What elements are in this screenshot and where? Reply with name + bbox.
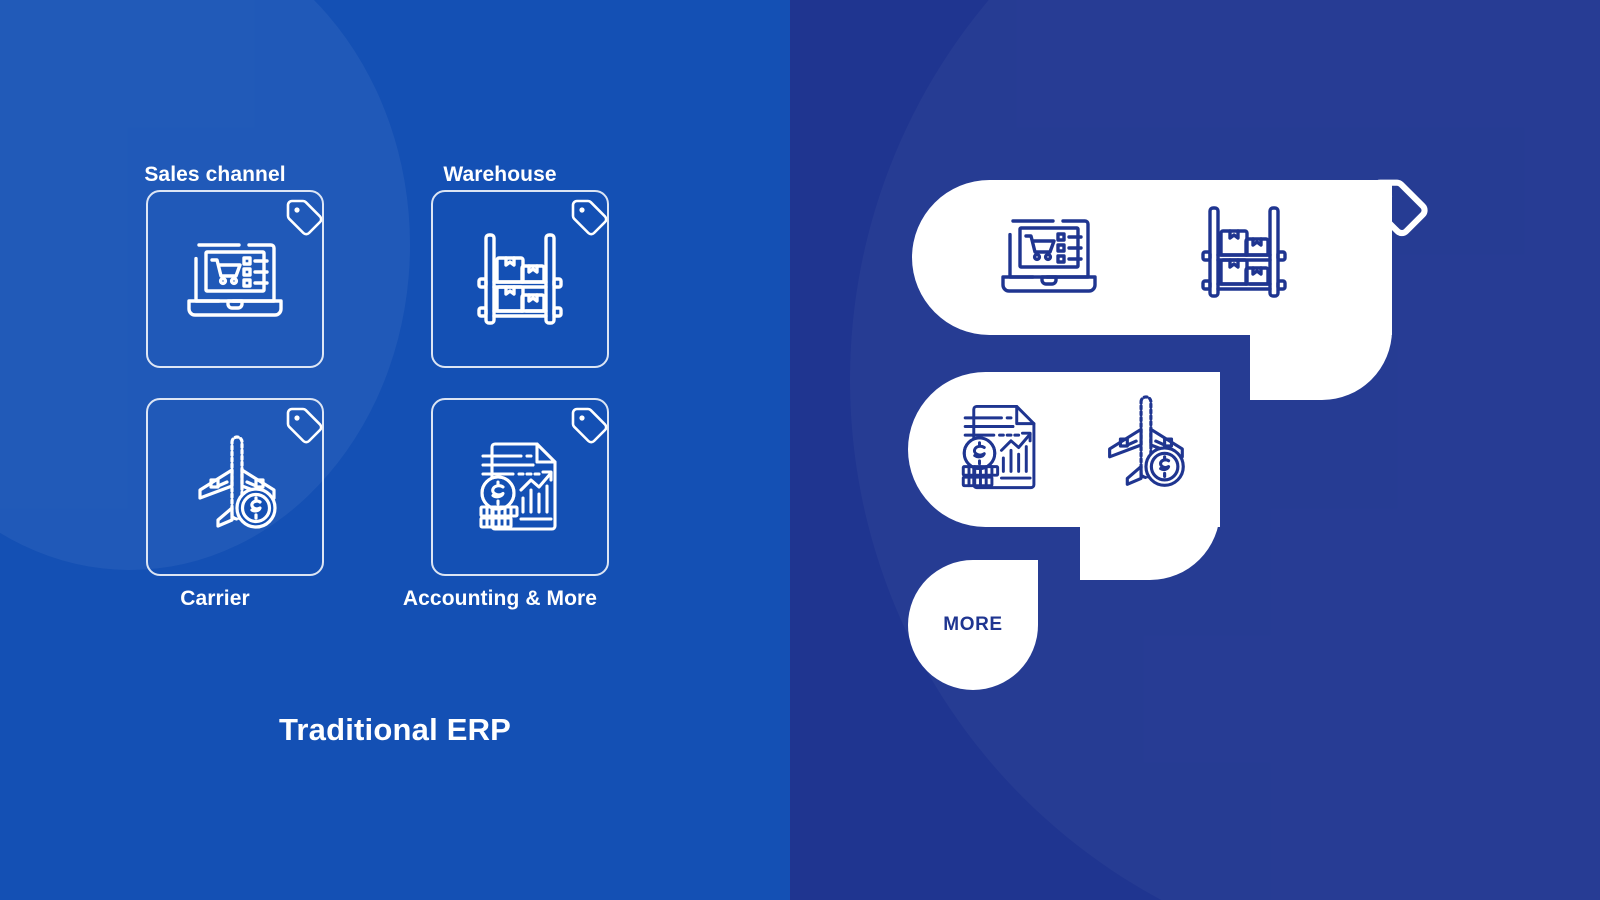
- price-tag-icon: [1365, 172, 1435, 242]
- price-tag-icon: [282, 402, 328, 448]
- erp-card-carrier[interactable]: Carrier: [120, 398, 310, 614]
- modern-platform-panel: MORE: [790, 0, 1600, 900]
- group-icon-carrier[interactable]: [1090, 392, 1198, 500]
- group-icon-warehouse[interactable]: [1190, 198, 1298, 306]
- accounting-report-chart-icon: [465, 432, 575, 542]
- more-button-label: MORE: [943, 614, 1002, 636]
- erp-card-accounting[interactable]: Accounting & More: [405, 398, 595, 614]
- erp-card-warehouse[interactable]: Warehouse: [405, 160, 595, 368]
- card-label-warehouse: Warehouse: [405, 160, 595, 190]
- erp-card-sales-channel[interactable]: Sales channel: [120, 160, 310, 368]
- accounting-report-chart-icon: [948, 395, 1053, 500]
- comparison-graphic: Sales channel: [0, 0, 1600, 900]
- warehouse-shelf-boxes-icon: [1190, 198, 1298, 306]
- price-tag-icon: [567, 194, 613, 240]
- card-label-accounting: Accounting & More: [370, 584, 630, 614]
- erp-module-grid: Sales channel: [120, 160, 680, 614]
- laptop-shopping-cart-icon: [995, 205, 1103, 305]
- price-tag-icon: [282, 194, 328, 240]
- page-title: Traditional ERP: [0, 712, 790, 748]
- group-icon-sales-channel[interactable]: [995, 205, 1103, 305]
- price-tag-icon: [567, 402, 613, 448]
- airplane-dollar-coin-icon: [1090, 392, 1198, 500]
- airplane-dollar-coin-icon: [180, 432, 290, 542]
- traditional-erp-panel: Sales channel: [0, 0, 790, 900]
- group-icon-accounting[interactable]: [948, 395, 1053, 500]
- card-label-carrier: Carrier: [120, 584, 310, 614]
- unified-module-stack: MORE: [790, 0, 1600, 900]
- warehouse-shelf-boxes-icon: [466, 225, 574, 333]
- laptop-shopping-cart-icon: [181, 229, 289, 329]
- more-button[interactable]: MORE: [908, 560, 1038, 690]
- card-label-sales-channel: Sales channel: [120, 160, 310, 190]
